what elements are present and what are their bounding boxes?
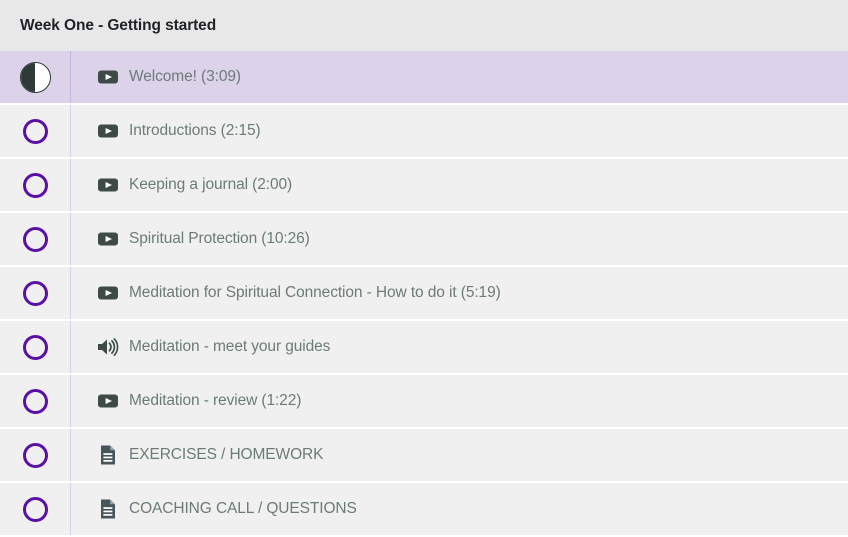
lesson-title: Meditation - meet your guides [129,339,330,355]
video-play-icon [97,390,119,412]
video-play-icon [97,174,119,196]
empty-circle-icon[interactable] [23,335,48,360]
lesson-title: Spiritual Protection (10:26) [129,231,310,247]
lesson-row[interactable]: COACHING CALL / QUESTIONS [0,483,848,537]
video-play-icon [97,228,119,250]
lesson-content-cell[interactable]: Welcome! (3:09) [71,51,848,103]
lesson-title: Welcome! (3:09) [129,69,241,85]
lesson-status-cell[interactable] [0,51,71,103]
lesson-content-cell[interactable]: EXERCISES / HOMEWORK [71,429,848,481]
empty-circle-icon[interactable] [23,389,48,414]
lesson-list: Welcome! (3:09)Introductions (2:15)Keepi… [0,51,848,537]
empty-circle-icon[interactable] [23,119,48,144]
empty-circle-icon[interactable] [23,443,48,468]
section-header: Week One - Getting started [0,0,848,51]
lesson-row[interactable]: Spiritual Protection (10:26) [0,213,848,267]
lesson-row[interactable]: EXERCISES / HOMEWORK [0,429,848,483]
lesson-status-cell[interactable] [0,159,71,211]
lesson-status-cell[interactable] [0,429,71,481]
lesson-row[interactable]: Welcome! (3:09) [0,51,848,105]
lesson-status-cell[interactable] [0,483,71,535]
video-play-icon [97,66,119,88]
lesson-title: COACHING CALL / QUESTIONS [129,501,357,517]
lesson-status-cell[interactable] [0,321,71,373]
document-page-icon [97,498,119,520]
lesson-row[interactable]: Introductions (2:15) [0,105,848,159]
lesson-status-cell[interactable] [0,213,71,265]
lesson-content-cell[interactable]: Spiritual Protection (10:26) [71,213,848,265]
lesson-status-cell[interactable] [0,267,71,319]
half-filled-circle-icon[interactable] [20,62,51,93]
section-title: Week One - Getting started [20,18,216,34]
lesson-title: Keeping a journal (2:00) [129,177,292,193]
empty-circle-icon[interactable] [23,227,48,252]
lesson-content-cell[interactable]: Meditation - meet your guides [71,321,848,373]
lesson-row[interactable]: Meditation for Spiritual Connection - Ho… [0,267,848,321]
lesson-title: Introductions (2:15) [129,123,261,139]
lesson-row[interactable]: Meditation - meet your guides [0,321,848,375]
lesson-title: EXERCISES / HOMEWORK [129,447,323,463]
empty-circle-icon[interactable] [23,497,48,522]
video-play-icon [97,120,119,142]
speaker-audio-icon [97,336,119,358]
document-page-icon [97,444,119,466]
lesson-content-cell[interactable]: Introductions (2:15) [71,105,848,157]
lesson-title: Meditation for Spiritual Connection - Ho… [129,285,501,301]
lesson-content-cell[interactable]: Keeping a journal (2:00) [71,159,848,211]
lesson-title: Meditation - review (1:22) [129,393,301,409]
lesson-content-cell[interactable]: COACHING CALL / QUESTIONS [71,483,848,535]
lesson-row[interactable]: Keeping a journal (2:00) [0,159,848,213]
lesson-status-cell[interactable] [0,375,71,427]
lesson-content-cell[interactable]: Meditation - review (1:22) [71,375,848,427]
course-curriculum-panel: Week One - Getting started Welcome! (3:0… [0,0,848,537]
empty-circle-icon[interactable] [23,173,48,198]
lesson-status-cell[interactable] [0,105,71,157]
lesson-row[interactable]: Meditation - review (1:22) [0,375,848,429]
lesson-content-cell[interactable]: Meditation for Spiritual Connection - Ho… [71,267,848,319]
empty-circle-icon[interactable] [23,281,48,306]
video-play-icon [97,282,119,304]
